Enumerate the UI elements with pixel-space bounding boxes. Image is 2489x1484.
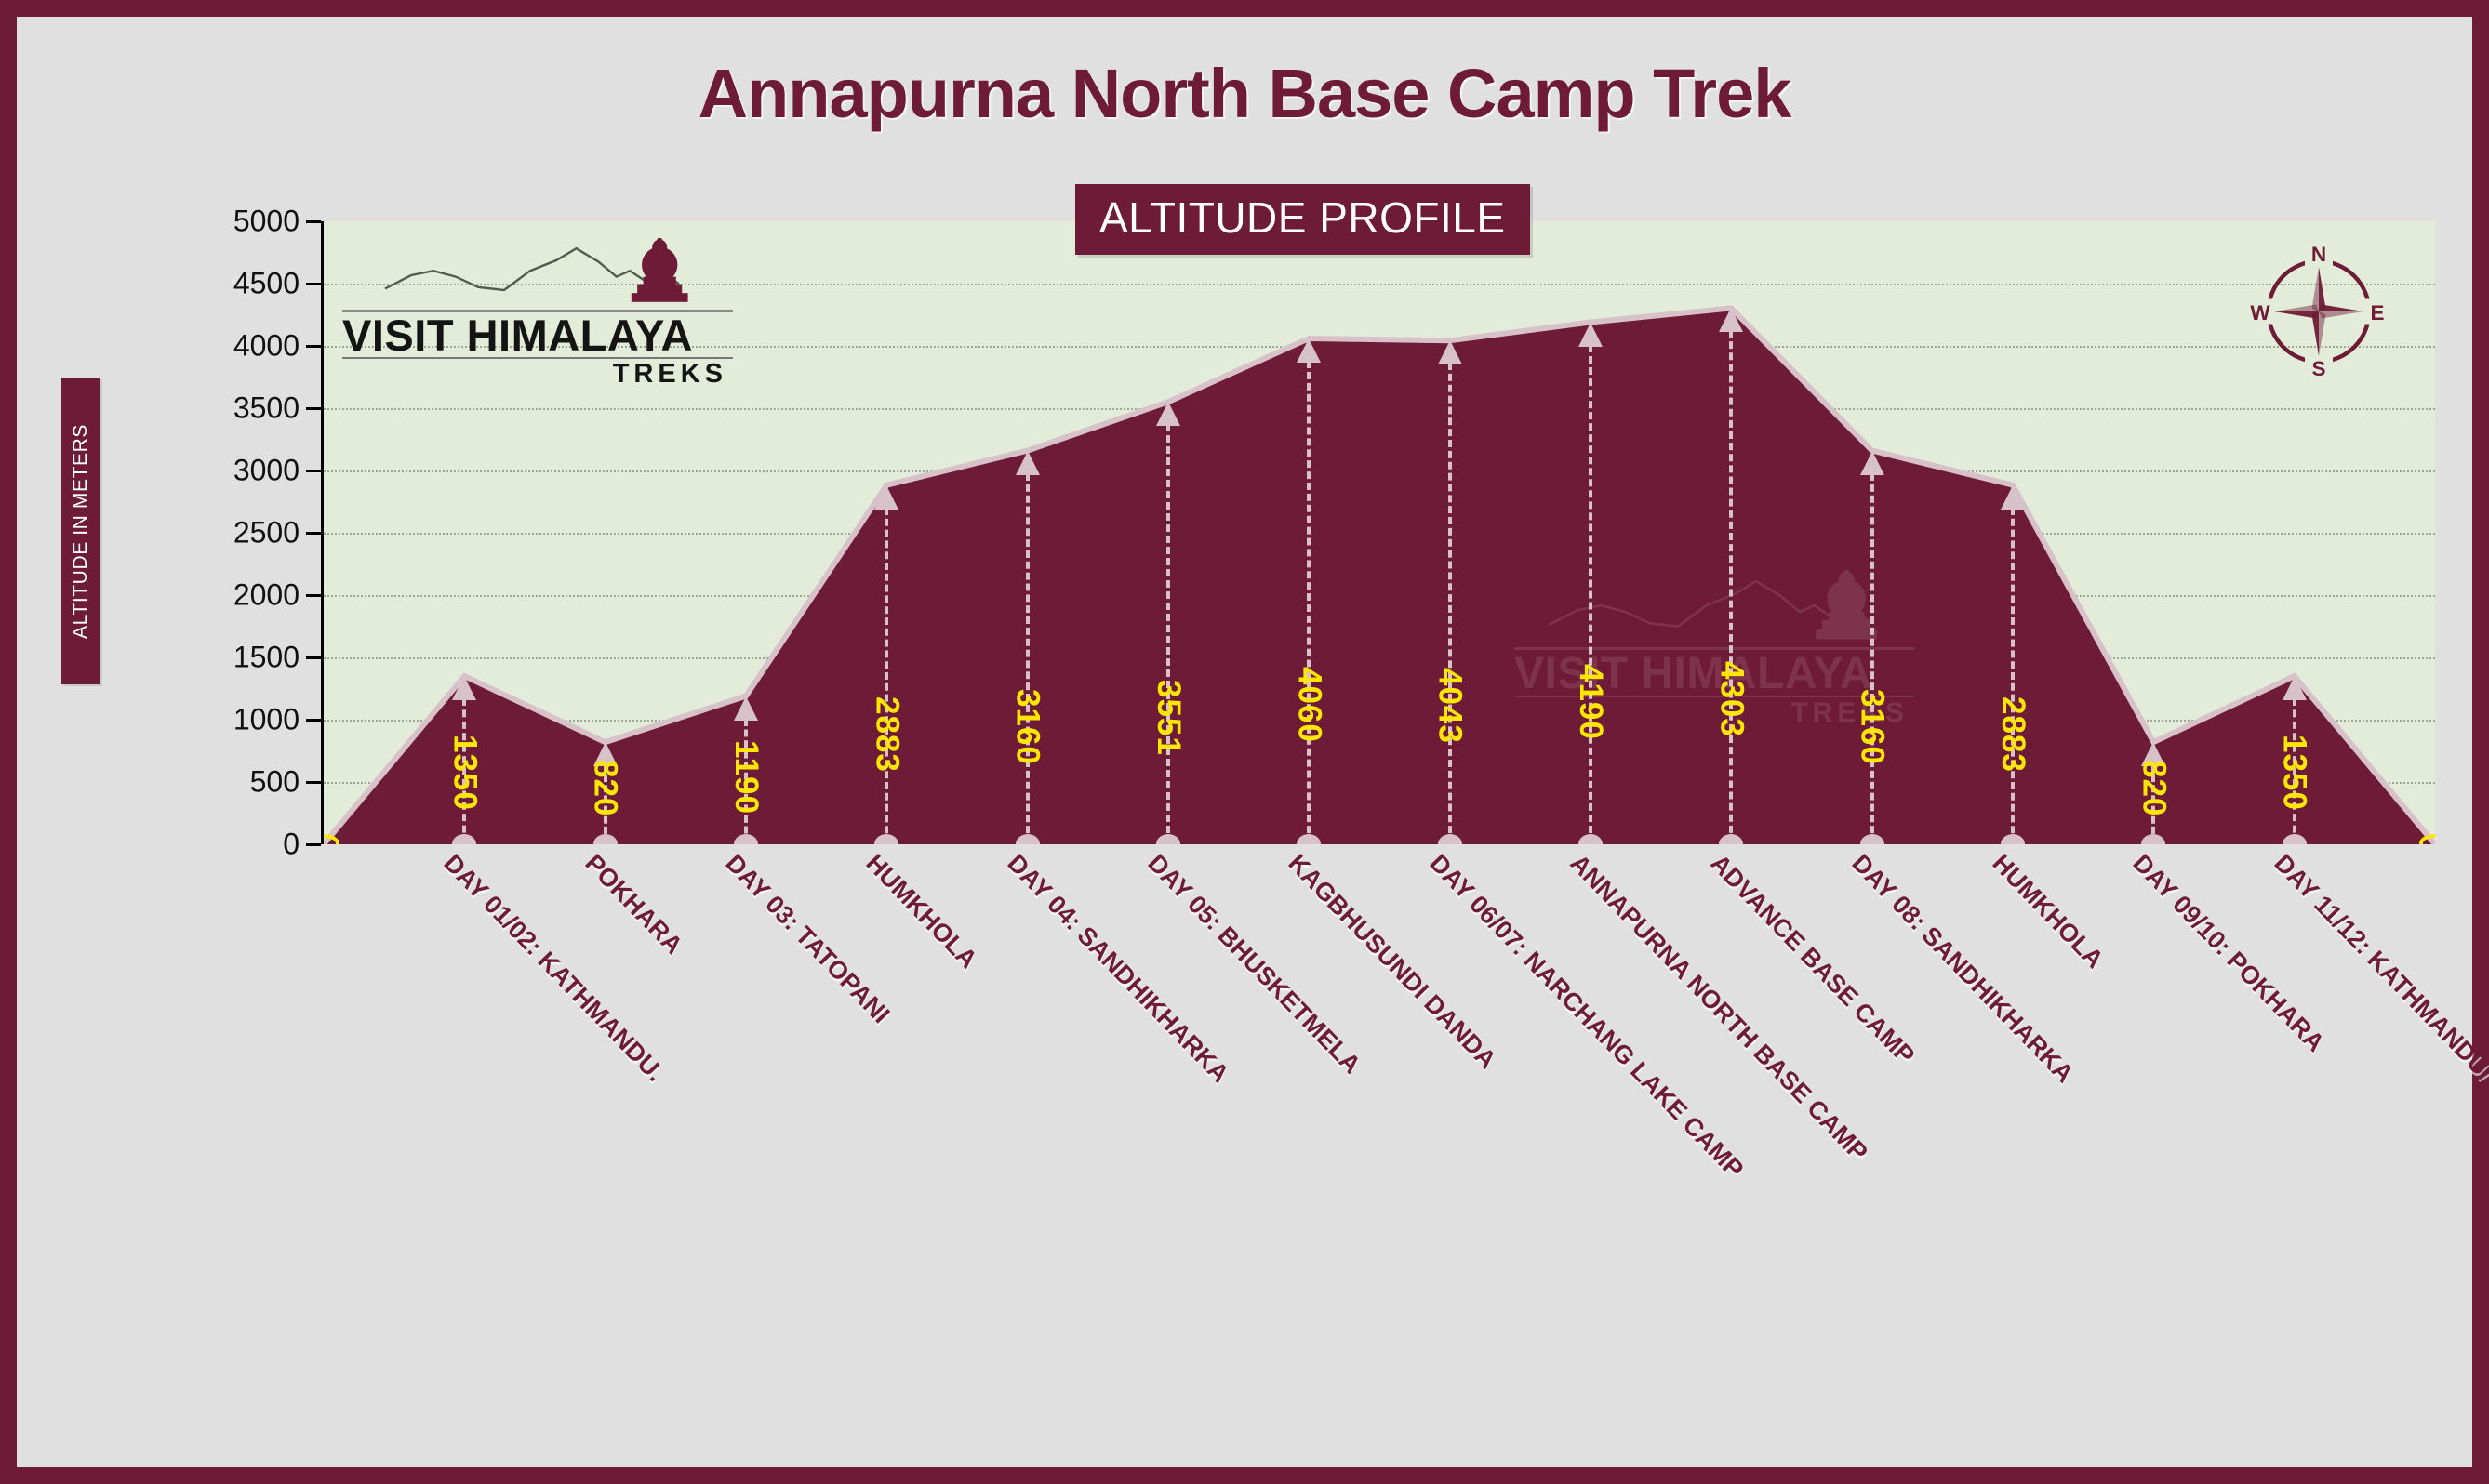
marker-stem: [1307, 361, 1311, 844]
plot-area: VISIT HIMALAYA TREKS www.visithimalayast…: [324, 221, 2435, 844]
marker-stem: [1729, 330, 1733, 844]
y-axis-tick: [306, 594, 321, 597]
marker-stem: [885, 508, 888, 844]
y-axis-tick: [306, 345, 321, 348]
marker-arrow-icon: [1016, 451, 1040, 475]
x-axis-label: HUMKHOLA: [1987, 849, 2110, 974]
y-axis-tick-label: 3500: [233, 391, 299, 426]
y-axis-tick-label: 1500: [233, 641, 299, 675]
y-axis-tick-label: 4500: [233, 267, 299, 301]
y-axis-tick-label: 2000: [233, 578, 299, 613]
marker-stem: [1870, 473, 1874, 844]
y-axis-tick: [306, 719, 321, 722]
altitude-value-label: 3551: [1150, 680, 1187, 756]
marker-stem: [1589, 345, 1592, 844]
y-axis-tick: [306, 283, 321, 285]
altitude-value-label: 2883: [1994, 696, 2031, 773]
compass-east-label: E: [2370, 301, 2384, 325]
altitude-value-label: 3160: [1009, 689, 1046, 765]
y-axis-tick-label: 5000: [233, 205, 299, 239]
marker-arrow-icon: [1156, 402, 1180, 426]
altitude-value-label: 1190: [727, 740, 765, 815]
status-badge: ALTITUDE PROFILE: [1075, 184, 1530, 255]
marker-arrow-icon: [874, 485, 898, 510]
y-axis-title: ALTITUDE IN METERS: [61, 378, 100, 684]
y-axis-tick: [306, 470, 321, 472]
x-axis-label: DAY 06/07: NARCHANG LAKE CAMP: [1423, 849, 1749, 1184]
altitude-value-label: 4060: [1290, 667, 1327, 743]
y-axis-tick: [306, 843, 321, 846]
y-axis-tick: [306, 407, 321, 410]
y-axis-title-label: ALTITUDE IN METERS: [70, 424, 92, 639]
marker-arrow-icon: [2283, 676, 2307, 700]
x-axis-label: ANNAPURNA NORTH BASE CAMP: [1564, 849, 1873, 1167]
altitude-value-label: 1350: [446, 735, 483, 811]
y-axis-tick: [306, 220, 321, 223]
brand-logo: VISIT HIMALAYA TREKS: [342, 238, 733, 390]
marker-arrow-icon: [452, 676, 476, 700]
marker-stem: [1026, 473, 1030, 844]
plot-wrapper: VISIT HIMALAYA TREKS www.visithimalayast…: [324, 221, 2435, 844]
x-axis-labels: DAY 01/02: KATHMANDU.POKHARADAY 03: TATO…: [324, 849, 2435, 1314]
marker-arrow-icon: [1578, 323, 1603, 347]
altitude-value-label: 820: [2135, 760, 2172, 816]
altitude-value-label: 2883: [868, 696, 905, 773]
page-title: Annapurna North Base Camp Trek: [17, 54, 2472, 133]
marker-stem: [1166, 424, 1170, 844]
marker-arrow-icon: [1860, 451, 1884, 475]
altitude-value-label: 820: [587, 760, 624, 816]
logo-text-primary: VISIT HIMALAYA: [342, 314, 733, 357]
y-axis-tick: [306, 532, 321, 535]
x-axis-label: DAY 04: SANDHIKHARKA: [1001, 849, 1234, 1089]
y-axis-tick-label: 0: [283, 828, 299, 862]
x-axis-label: HUMKHOLA: [860, 849, 983, 974]
x-axis-label: POKHARA: [579, 849, 687, 961]
marker-arrow-icon: [2001, 485, 2025, 510]
mountain-stupa-icon: [1514, 570, 1914, 643]
marker-arrow-icon: [1297, 338, 1321, 363]
compass-west-label: W: [2250, 301, 2270, 325]
marker-arrow-icon: [1438, 340, 1462, 364]
altitude-value-label: 4303: [1712, 661, 1750, 737]
compass-north-label: N: [2311, 243, 2326, 266]
y-axis-tick-label: 3000: [233, 454, 299, 488]
x-axis-label: DAY 08: SANDHIKHARKA: [1845, 849, 2079, 1089]
logo-text-secondary: TREKS: [342, 357, 733, 390]
y-axis-tick-label: 500: [250, 765, 299, 800]
altitude-value-label: 4190: [1572, 664, 1609, 740]
y-axis-tick-label: 4000: [233, 329, 299, 364]
altitude-value-label: 4043: [1431, 668, 1469, 744]
marker-stem: [2011, 508, 2015, 844]
y-axis-tick: [306, 781, 321, 784]
chart-canvas: Annapurna North Base Camp Trek ALTITUDE …: [17, 17, 2472, 1467]
compass-south-label: S: [2311, 357, 2325, 380]
y-axis-tick: [306, 656, 321, 659]
altitude-value-label: 1350: [2276, 735, 2313, 811]
compass-rose-icon: N S E W: [2249, 242, 2389, 381]
mountain-stupa-icon: [342, 238, 733, 305]
marker-arrow-icon: [734, 696, 758, 721]
y-axis-tick-label: 2500: [233, 516, 299, 550]
marker-arrow-icon: [1719, 308, 1743, 332]
altitude-value-label: 3160: [1854, 689, 1891, 765]
marker-stem: [1448, 363, 1452, 844]
poster-frame: Annapurna North Base Camp Trek ALTITUDE …: [0, 0, 2489, 1484]
y-axis-tick-label: 1000: [233, 703, 299, 737]
